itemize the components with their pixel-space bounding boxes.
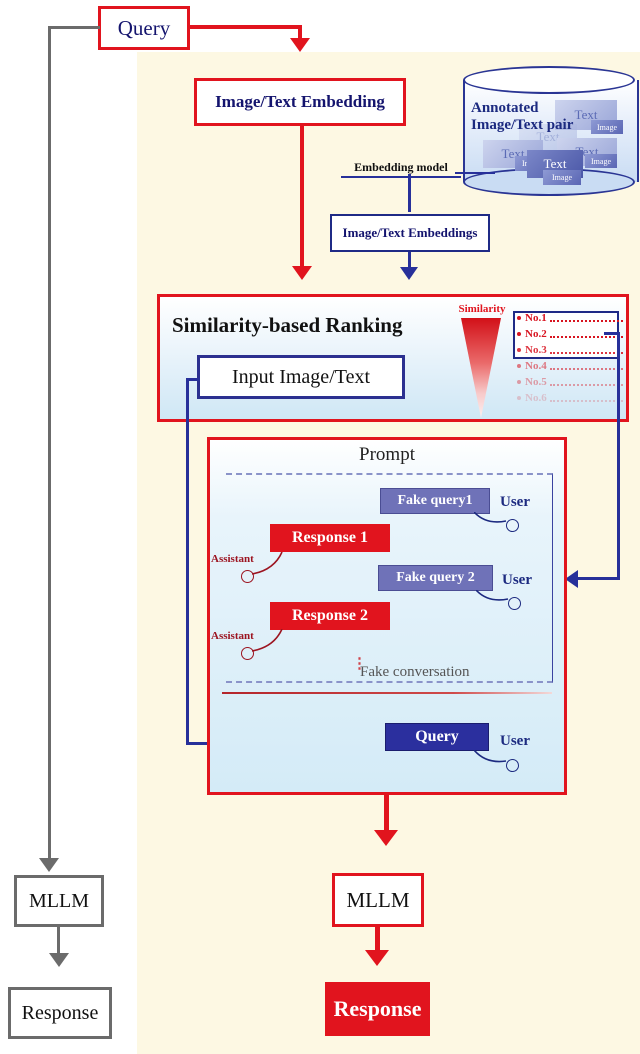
baseline-arrow-to-response: [49, 953, 69, 967]
diagram-canvas: Query MLLM Response Image/Text Embedding…: [0, 0, 640, 1054]
db-thumb-image-label-4: Image: [591, 157, 611, 166]
prompt-title: Prompt: [207, 444, 567, 466]
cylinder-top-ellipse: [463, 66, 635, 94]
leader-dots: [550, 377, 623, 386]
ranking-item-5[interactable]: No.5: [513, 374, 623, 390]
bullet-icon: [517, 380, 521, 384]
query-box[interactable]: Query: [98, 6, 190, 50]
ranking-item-3[interactable]: No.3: [513, 342, 623, 358]
ranking-item-5-label: No.5: [525, 376, 547, 388]
leader-dots: [550, 345, 623, 354]
fake-query-2-bubble[interactable]: Fake query 2: [378, 565, 493, 591]
ranking-item-6[interactable]: No.6: [513, 390, 623, 406]
leader-dots: [550, 361, 623, 370]
assistant-role-label-1: Assistant: [211, 553, 254, 565]
user-role-text-2: User: [502, 572, 532, 588]
fake-query-1-label: Fake query1: [397, 493, 472, 509]
user-connector-curve-3: [474, 750, 510, 766]
db-thumbnail-image-5: Image: [543, 170, 581, 185]
input-image-text-label: Input Image/Text: [232, 367, 370, 388]
database-caption-line2: Image/Text pair: [471, 117, 601, 134]
baseline-response-box[interactable]: Response: [8, 987, 112, 1039]
fake-conversation-label: Fake conversation: [360, 664, 470, 681]
model-to-embeddings-line: [408, 174, 411, 212]
real-query-bubble[interactable]: Query: [385, 723, 489, 751]
embedding-to-ranking-arrow: [292, 266, 312, 280]
baseline-mllm-label: MLLM: [29, 891, 89, 912]
baseline-mllm-box[interactable]: MLLM: [14, 875, 104, 927]
baseline-connector-v: [48, 26, 51, 862]
user-connector-curve-1: [474, 512, 510, 526]
image-text-embeddings-label: Image/Text Embeddings: [343, 226, 478, 240]
topk-to-prompt-h-top: [604, 332, 620, 335]
fake-query-2-label: Fake query 2: [396, 570, 475, 586]
leader-dots: [550, 313, 623, 322]
user-role-label-1: User: [500, 494, 530, 511]
baseline-connector-h: [48, 26, 100, 29]
database-caption-line1: Annotated: [471, 100, 601, 117]
embeddings-to-ranking-arrow: [400, 267, 418, 280]
query-box-label: Query: [118, 17, 170, 39]
prompt-to-mllm-arrow: [374, 830, 398, 846]
similarity-axis-label: Similarity: [447, 303, 517, 315]
prompt-to-mllm-line: [384, 795, 389, 833]
cylinder-to-model-line: [455, 172, 495, 174]
ranking-item-1-label: No.1: [525, 312, 547, 324]
user-role-label-3: User: [500, 733, 530, 750]
response-1-label: Response 1: [292, 529, 368, 547]
response-2-label: Response 2: [292, 607, 368, 625]
query-to-embedding-h: [188, 25, 302, 29]
assistant-role-text-2: Assistant: [211, 630, 254, 642]
image-text-embeddings-box[interactable]: Image/Text Embeddings: [330, 214, 490, 252]
ranking-list: No.1 No.2 No.3 No.4 No.5 No.6: [513, 310, 623, 406]
similarity-ranking-title: Similarity-based Ranking: [172, 308, 462, 342]
ranking-item-2-label: No.2: [525, 328, 547, 340]
user-connector-curve-2: [476, 590, 512, 604]
response-1-bubble[interactable]: Response 1: [270, 524, 390, 552]
ranking-item-1[interactable]: No.1: [513, 310, 623, 326]
annotated-database-cylinder: Text Image Text Text Image Text Image Te…: [463, 66, 635, 196]
leader-dots: [550, 393, 623, 402]
prompt-separator-line: [222, 692, 552, 694]
rag-mllm-box[interactable]: MLLM: [332, 873, 424, 927]
query-to-embedding-arrow: [290, 38, 310, 52]
topk-to-prompt-v: [617, 334, 620, 578]
bullet-icon: [517, 316, 521, 320]
user-role-label-2: User: [502, 572, 532, 589]
embedding-to-ranking-line: [300, 126, 304, 268]
input-image-text-box[interactable]: Input Image/Text: [197, 355, 405, 399]
embedding-model-label: Embedding model: [341, 160, 461, 178]
db-thumbnail-image-4: Image: [585, 154, 617, 168]
baseline-response-label: Response: [22, 1003, 99, 1024]
database-caption: Annotated Image/Text pair: [471, 100, 601, 135]
mllm-to-response-arrow: [365, 950, 389, 966]
baseline-arrow-to-mllm: [39, 858, 59, 872]
topk-to-prompt-h-bottom: [578, 577, 620, 580]
ranking-item-6-label: No.6: [525, 392, 547, 404]
bullet-icon: [517, 396, 521, 400]
assistant-connector-curve-1: [252, 552, 284, 578]
user-role-text-1: User: [500, 494, 530, 510]
assistant-role-label-2: Assistant: [211, 630, 254, 642]
real-query-label: Query: [415, 728, 459, 746]
rag-mllm-label: MLLM: [347, 889, 410, 911]
response-2-bubble[interactable]: Response 2: [270, 602, 390, 630]
fake-query-1-bubble[interactable]: Fake query1: [380, 488, 490, 514]
bullet-icon: [517, 364, 521, 368]
ranking-item-3-label: No.3: [525, 344, 547, 356]
baseline-mllm-to-response-line: [57, 927, 60, 955]
image-text-embedding-label: Image/Text Embedding: [215, 93, 385, 111]
input-to-prompt-v: [186, 378, 189, 745]
assistant-connector-curve-2: [252, 629, 284, 655]
db-thumb-image-label-5: Image: [552, 173, 572, 182]
bullet-icon: [517, 348, 521, 352]
ranking-item-4-label: No.4: [525, 360, 547, 372]
ranking-item-4[interactable]: No.4: [513, 358, 623, 374]
bullet-icon: [517, 332, 521, 336]
assistant-role-text-1: Assistant: [211, 553, 254, 565]
image-text-embedding-box[interactable]: Image/Text Embedding: [194, 78, 406, 126]
rag-response-box[interactable]: Response: [325, 982, 430, 1036]
rag-response-label: Response: [333, 997, 421, 1020]
user-role-text-3: User: [500, 733, 530, 749]
